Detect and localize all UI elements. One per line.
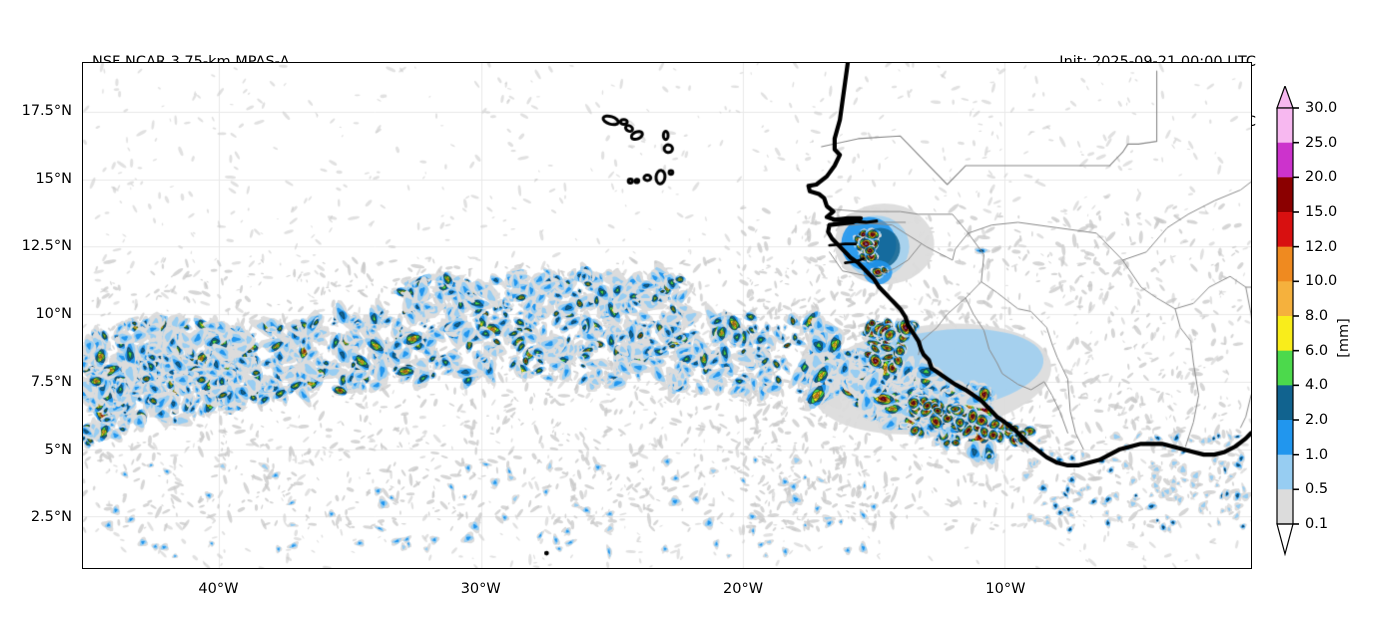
- colorbar-tick-10: 1.0: [1305, 447, 1328, 463]
- colorbar-tick-6: 8.0: [1305, 308, 1328, 324]
- precipitation-forecast-figure: NSF NCAR 3.75-km MPAS-A 1-hr Accumulated…: [0, 0, 1384, 623]
- colorbar-tick-12: 0.1: [1305, 516, 1328, 532]
- precipitation-field: [83, 63, 1251, 568]
- latitude-tick-6: 2.5°N: [0, 509, 72, 525]
- colorbar-tick-2: 20.0: [1305, 169, 1337, 185]
- colorbar-axis-label: [mm]: [1336, 318, 1352, 358]
- colorbar-tick-4: 12.0: [1305, 239, 1337, 255]
- latitude-tick-1: 15°N: [0, 171, 72, 187]
- map-plot-area[interactable]: [82, 62, 1252, 569]
- latitude-tick-2: 12.5°N: [0, 238, 72, 254]
- colorbar-tick-1: 25.0: [1305, 135, 1337, 151]
- latitude-tick-3: 10°N: [0, 306, 72, 322]
- colorbar-tick-7: 6.0: [1305, 343, 1328, 359]
- colorbar-tick-5: 10.0: [1305, 273, 1337, 289]
- latitude-tick-5: 5°N: [0, 442, 72, 458]
- longitude-tick-1: 30°W: [461, 581, 501, 597]
- colorbar-tick-0: 30.0: [1305, 100, 1337, 116]
- colorbar: [1266, 86, 1306, 558]
- colorbar-tick-8: 4.0: [1305, 377, 1328, 393]
- colorbar-tick-9: 2.0: [1305, 412, 1328, 428]
- longitude-tick-2: 20°W: [723, 581, 763, 597]
- longitude-tick-3: 10°W: [985, 581, 1025, 597]
- colorbar-swatches: [1266, 86, 1306, 558]
- colorbar-tick-11: 0.5: [1305, 481, 1328, 497]
- latitude-tick-4: 7.5°N: [0, 374, 72, 390]
- latitude-tick-0: 17.5°N: [0, 103, 72, 119]
- longitude-tick-0: 40°W: [198, 581, 238, 597]
- colorbar-tick-3: 15.0: [1305, 204, 1337, 220]
